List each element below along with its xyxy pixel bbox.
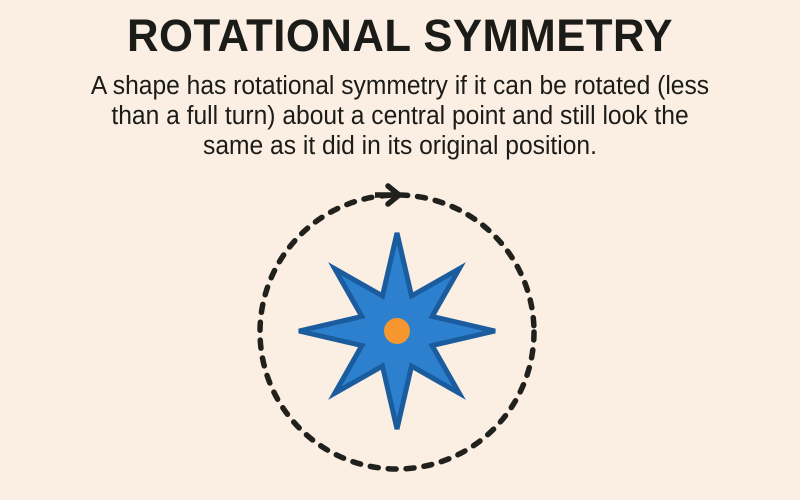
rotational-symmetry-figure <box>250 175 550 485</box>
infographic-root: ROTATIONAL SYMMETRY A shape has rotation… <box>0 0 800 500</box>
subtitle-paragraph: A shape has rotational symmetry if it ca… <box>14 62 786 161</box>
subtitle-line-3: same as it did in its original position. <box>14 131 786 161</box>
subtitle-line-1: A shape has rotational symmetry if it ca… <box>14 71 786 101</box>
header-block: ROTATIONAL SYMMETRY A shape has rotation… <box>0 0 800 161</box>
figure-svg <box>250 175 550 485</box>
page-title: ROTATIONAL SYMMETRY <box>12 0 788 62</box>
subtitle-line-2: than a full turn) about a central point … <box>14 101 786 131</box>
rotation-direction-arrow-icon <box>375 186 399 204</box>
center-point-dot <box>384 318 410 344</box>
